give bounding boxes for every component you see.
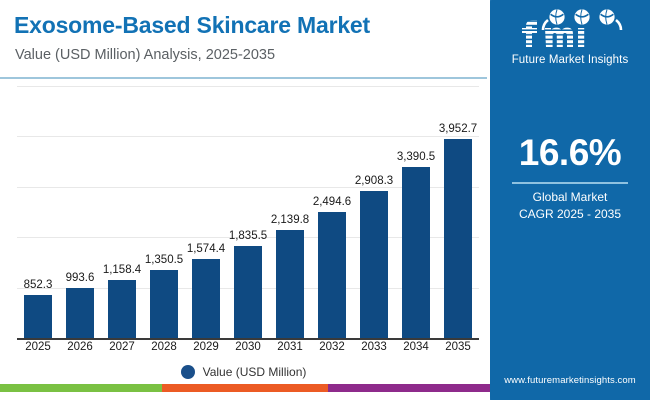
bar-value-label: 2,494.6 bbox=[304, 196, 360, 208]
cagr-divider bbox=[512, 182, 628, 184]
x-axis-tick-label: 2033 bbox=[353, 341, 395, 353]
stripe-segment-purple bbox=[328, 384, 490, 392]
x-axis-tick-label: 2031 bbox=[269, 341, 311, 353]
infographic-page: Exosome-Based Skincare Market Value (USD… bbox=[0, 0, 650, 400]
bar-value-label: 3,390.5 bbox=[388, 151, 444, 163]
bottom-color-stripe bbox=[0, 384, 490, 392]
bar[interactable] bbox=[192, 259, 220, 338]
page-subtitle: Value (USD Million) Analysis, 2025-2035 bbox=[15, 47, 275, 63]
chart-legend: Value (USD Million) bbox=[0, 365, 487, 379]
bar[interactable] bbox=[276, 230, 304, 338]
x-axis-tick-label: 2035 bbox=[437, 341, 479, 353]
x-axis-line bbox=[17, 338, 479, 340]
globe-icon bbox=[549, 9, 564, 24]
bar-value-label: 1,574.4 bbox=[178, 243, 234, 255]
brand-panel: Future Market Insights 16.6% Global Mark… bbox=[490, 0, 650, 400]
fmi-logo-mark bbox=[512, 8, 628, 52]
cagr-caption-line1: Global Market bbox=[490, 190, 650, 204]
header-divider bbox=[0, 77, 487, 79]
globe-icon bbox=[599, 9, 614, 24]
fmi-logo: Future Market Insights bbox=[490, 8, 650, 66]
bar[interactable] bbox=[66, 288, 94, 338]
bar[interactable] bbox=[318, 212, 346, 338]
bar[interactable] bbox=[234, 246, 262, 339]
bar-group[interactable]: 3,952.7 bbox=[437, 86, 479, 338]
bar[interactable] bbox=[150, 270, 178, 338]
bars-group: 852.3993.61,158.41,350.51,574.41,835.52,… bbox=[17, 86, 479, 338]
x-axis-tick-label: 2029 bbox=[185, 341, 227, 353]
cagr-caption-line2: CAGR 2025 - 2035 bbox=[490, 207, 650, 221]
cagr-value: 16.6% bbox=[490, 132, 650, 174]
bar[interactable] bbox=[402, 167, 430, 338]
x-axis-tick-label: 2026 bbox=[59, 341, 101, 353]
stripe-segment-green bbox=[0, 384, 162, 392]
x-axis-tick-label: 2028 bbox=[143, 341, 185, 353]
bar-group[interactable]: 2,139.8 bbox=[269, 86, 311, 338]
bar-group[interactable]: 1,574.4 bbox=[185, 86, 227, 338]
bar-value-label: 1,835.5 bbox=[220, 230, 276, 242]
bar-group[interactable]: 2,908.3 bbox=[353, 86, 395, 338]
bar-chart-plot: 852.3993.61,158.41,350.51,574.41,835.52,… bbox=[0, 86, 487, 341]
x-axis-tick-label: 2034 bbox=[395, 341, 437, 353]
globe-icon bbox=[574, 9, 589, 24]
legend-marker-icon bbox=[181, 365, 195, 379]
bar-group[interactable]: 852.3 bbox=[17, 86, 59, 338]
page-title: Exosome-Based Skincare Market bbox=[14, 12, 370, 39]
legend-label: Value (USD Million) bbox=[203, 365, 307, 379]
fmi-logo-tagline: Future Market Insights bbox=[490, 54, 650, 66]
x-axis-tick-labels: 2025202620272028202920302031203220332034… bbox=[17, 341, 479, 361]
stripe-segment-orange bbox=[162, 384, 328, 392]
bar-value-label: 1,350.5 bbox=[136, 254, 192, 266]
bar-group[interactable]: 1,158.4 bbox=[101, 86, 143, 338]
bar[interactable] bbox=[108, 280, 136, 338]
x-axis-tick-label: 2025 bbox=[17, 341, 59, 353]
bar-group[interactable]: 1,835.5 bbox=[227, 86, 269, 338]
x-axis-tick-label: 2030 bbox=[227, 341, 269, 353]
bar-group[interactable]: 993.6 bbox=[59, 86, 101, 338]
bar[interactable] bbox=[444, 139, 472, 338]
x-axis-tick-label: 2032 bbox=[311, 341, 353, 353]
bar-group[interactable]: 1,350.5 bbox=[143, 86, 185, 338]
bar-group[interactable]: 2,494.6 bbox=[311, 86, 353, 338]
website-url[interactable]: www.futuremarketinsights.com bbox=[490, 375, 650, 386]
bar-value-label: 2,139.8 bbox=[262, 214, 318, 226]
bar[interactable] bbox=[24, 295, 52, 338]
bar[interactable] bbox=[360, 191, 388, 338]
x-axis-tick-label: 2027 bbox=[101, 341, 143, 353]
bar-value-label: 2,908.3 bbox=[346, 175, 402, 187]
chart-pane: Exosome-Based Skincare Market Value (USD… bbox=[0, 0, 490, 392]
bar-value-label: 3,952.7 bbox=[430, 123, 486, 135]
